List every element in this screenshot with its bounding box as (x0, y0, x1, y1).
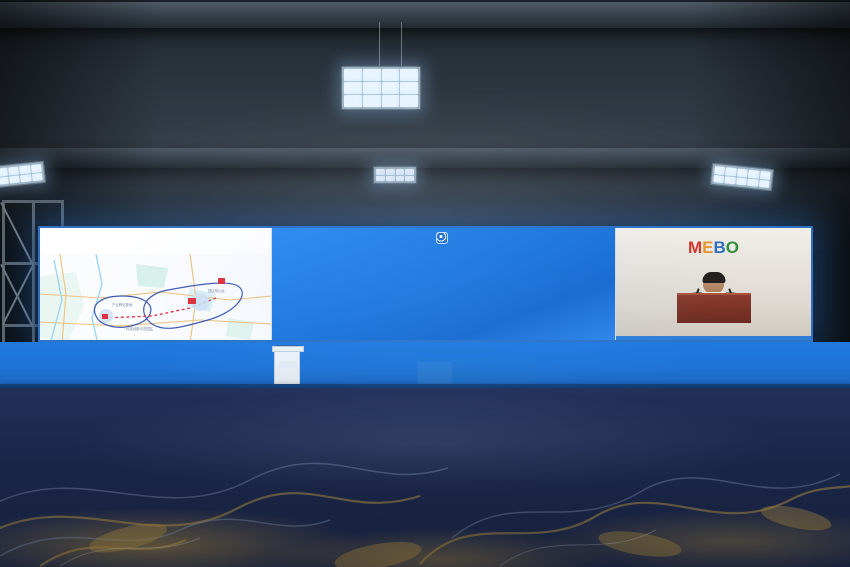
svg-text:园区核心区: 园区核心区 (208, 288, 226, 293)
ceiling-light-panel (341, 66, 421, 110)
video-podium (677, 293, 751, 323)
audience-seating (0, 360, 850, 567)
fair-banner (272, 232, 615, 244)
potted-plant-right (775, 280, 809, 326)
potted-plant-left (618, 280, 652, 326)
svg-text:科技创新示范园区: 科技创新示范园区 (126, 326, 154, 331)
svg-text:产业孵化基地: 产业孵化基地 (112, 302, 133, 307)
video-lower-third-bar (616, 336, 811, 340)
map-slide-panel: 园区核心区 产业孵化基地 科技创新示范园区 (40, 228, 272, 340)
speaker-video-panel: MEBO (615, 228, 811, 340)
mebo-logo: MEBO (616, 239, 811, 256)
main-title-panel (272, 228, 615, 340)
led-video-wall: 园区核心区 产业孵化基地 科技创新示范园区 (38, 226, 813, 342)
map-graphic: 园区核心区 产业孵化基地 科技创新示范园区 (40, 254, 271, 340)
conference-hall-photo: 园区核心区 产业孵化基地 科技创新示范园区 (0, 0, 850, 567)
fixture-hanger (379, 22, 380, 68)
fixture-hanger (401, 22, 402, 68)
hi-tech-fair-emblem-icon (436, 232, 448, 244)
